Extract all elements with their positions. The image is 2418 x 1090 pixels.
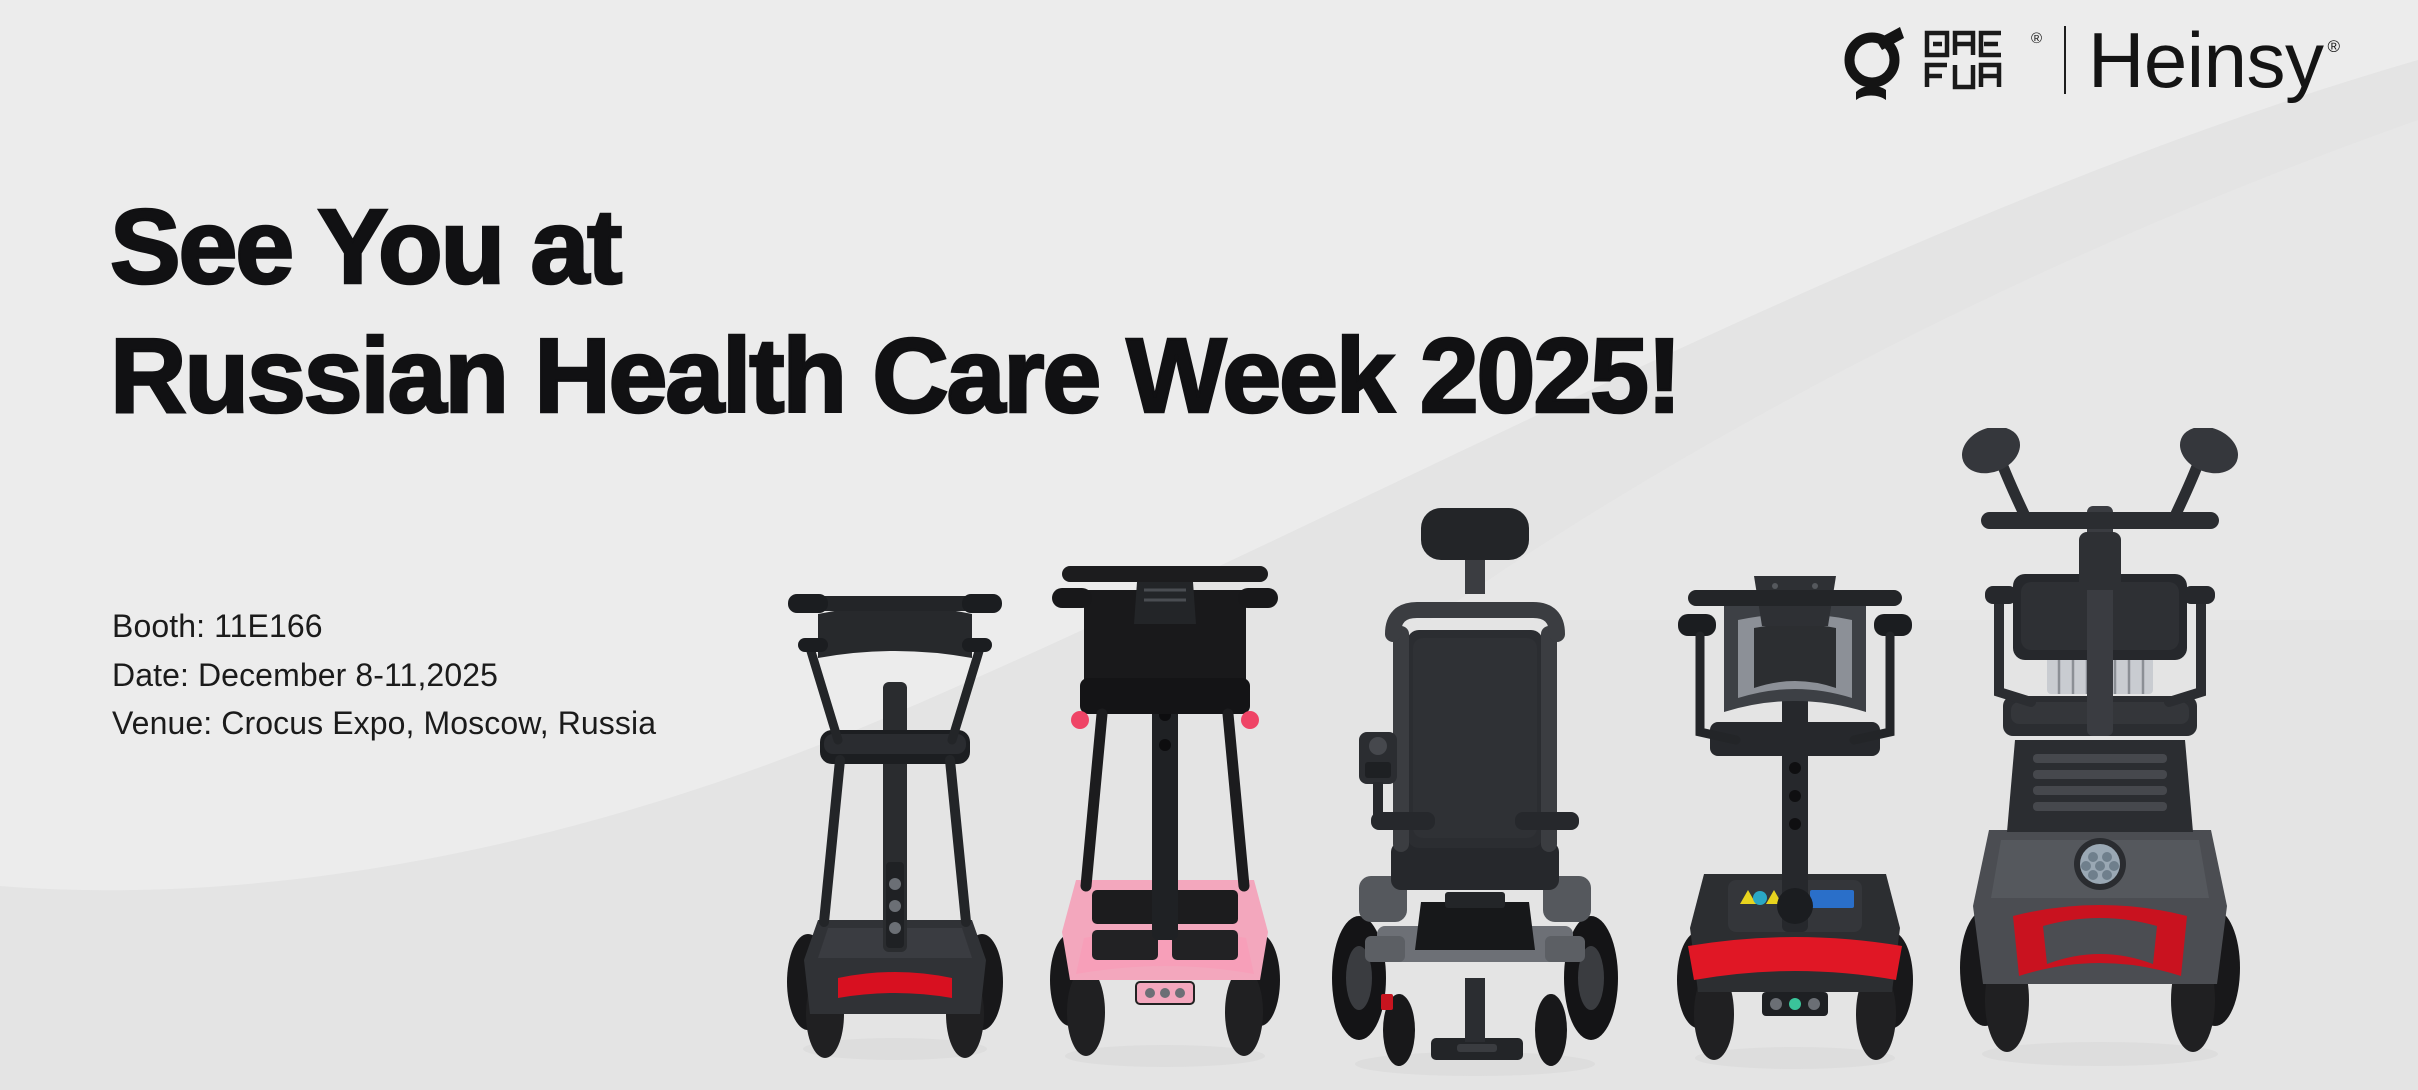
product-pink-folding-mobility-scooter [1040,550,1290,1070]
product-electric-power-wheelchair [1325,478,1625,1078]
brand-logo-lockup: ® Heinsy ® [1838,20,2340,100]
event-details: Booth: 11E166 Date: December 8-11,2025 V… [112,602,656,748]
date-info: Date: December 8-11,2025 [112,651,656,700]
onefun-wordmark: ® [1924,20,2042,91]
onefun-circle-g-icon [1838,20,1912,100]
page-title: See You at Russian Health Care Week 2025… [110,183,1680,442]
headline-line-1: See You at [110,183,1680,312]
heinsy-wordmark: Heinsy [2088,23,2323,97]
background-swoosh [0,0,2418,1090]
logo-divider [2064,26,2066,94]
event-banner: ® Heinsy ® See You at Russian Health Car… [0,0,2418,1090]
heinsy-registered-icon: ® [2327,23,2340,57]
product-heavy-duty-mobility-scooter [1955,428,2245,1068]
product-black-folding-mobility-scooter [780,562,1010,1062]
heinsy-logo: Heinsy ® [2088,23,2340,97]
onefun-registered-icon: ® [2031,29,2042,46]
venue-info: Venue: Crocus Expo, Moscow, Russia [112,699,656,748]
onefun-logo: ® [1838,20,2042,100]
product-mesh-back-mobility-scooter [1670,562,1920,1072]
headline-line-2: Russian Health Care Week 2025! [110,312,1680,441]
product-lineup [770,330,2418,1090]
booth-info: Booth: 11E166 [112,602,656,651]
onefun-one-fun-text-icon [1924,29,2028,91]
